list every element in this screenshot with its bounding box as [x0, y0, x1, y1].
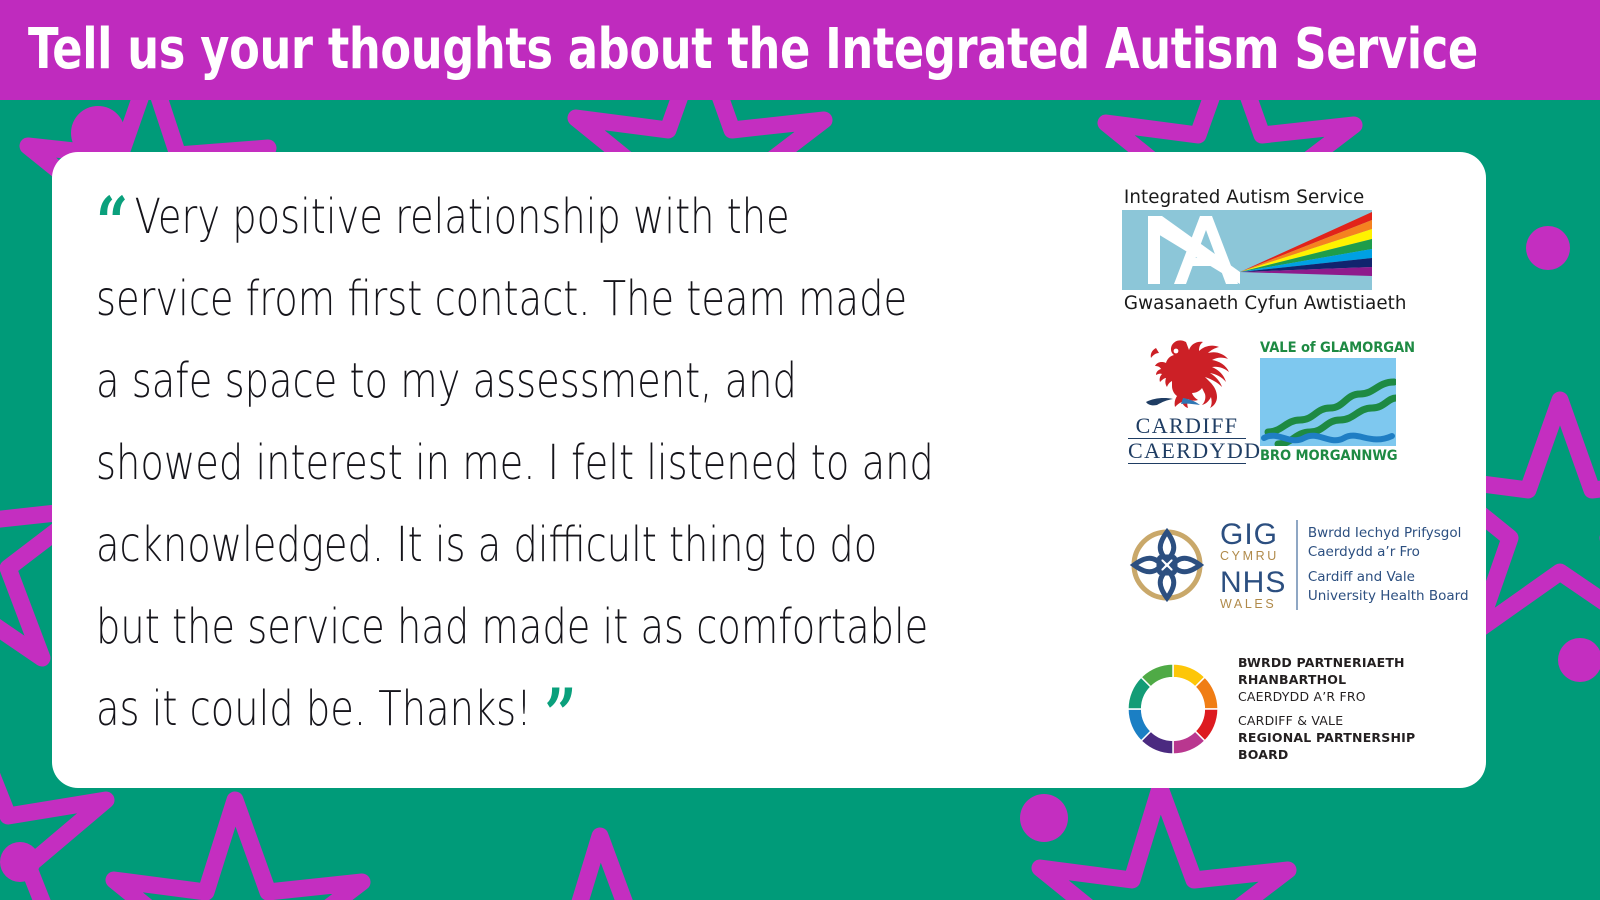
open-quote-icon: “ — [96, 181, 128, 264]
ias-title-cy: Gwasanaeth Cyfun Awtistiaeth — [1122, 292, 1364, 314]
rpb-line-cy-2: RHANBARTHOL — [1238, 671, 1415, 688]
quote-line-7: as it could be. Thanks! — [96, 681, 532, 737]
cardiff-divider-2 — [1128, 463, 1246, 464]
nhs-gig-text: GIG — [1220, 520, 1286, 550]
rpb-line-en-3: BOARD — [1238, 746, 1415, 763]
quote-line-5: acknowledged. It is a difficult thing to… — [96, 517, 877, 573]
logo-nhs-wales: GIG CYMRU NHS WALES Bwrdd Iechyd Prifysg… — [1122, 520, 1469, 610]
quote-line-3: a safe space to my assessment, and — [96, 353, 797, 409]
page-title: Tell us your thoughts about the Integrat… — [28, 18, 1478, 82]
council-logos-row: CARDIFF CAERDYDD VALE of GLAMORGAN — [1122, 336, 1400, 464]
nhs-line-en-1: Cardiff and Vale — [1308, 568, 1469, 587]
logo-column: Integrated Autism Service — [1122, 186, 1462, 763]
quote-line-4: showed interest in me. I felt listened t… — [96, 435, 934, 491]
nhs-divider — [1296, 520, 1298, 610]
quote-text: “Very positive relationship with the ser… — [96, 176, 1152, 750]
nhs-nhs-text: NHS — [1220, 568, 1286, 598]
logo-regional-partnership-board: BWRDD PARTNERIAETH RHANBARTHOL CAERDYDD … — [1122, 654, 1415, 763]
rpb-colour-wheel-icon — [1124, 660, 1222, 758]
logo-integrated-autism-service: Integrated Autism Service — [1122, 186, 1374, 314]
logo-vale-of-glamorgan: VALE of GLAMORGAN — [1260, 340, 1400, 464]
cardiff-dragon-icon — [1128, 336, 1246, 414]
rpb-line-en-1: CARDIFF & VALE — [1238, 712, 1415, 729]
ias-artwork-icon — [1122, 210, 1372, 290]
vale-artwork-icon — [1260, 358, 1396, 446]
vale-title-en: VALE of GLAMORGAN — [1260, 340, 1392, 356]
logo-cardiff-council: CARDIFF CAERDYDD — [1128, 336, 1246, 464]
poster-root: Tell us your thoughts about the Integrat… — [0, 0, 1600, 900]
close-quote-icon: ” — [544, 673, 576, 756]
cardiff-name-en: CARDIFF — [1128, 414, 1246, 438]
cardiff-name-cy: CAERDYDD — [1128, 439, 1246, 463]
quote-body: “Very positive relationship with the ser… — [96, 176, 1156, 750]
nhs-wales-text: WALES — [1220, 598, 1286, 611]
nhs-line-cy-1: Bwrdd Iechyd Prifysgol — [1308, 524, 1469, 543]
rpb-line-cy-1: BWRDD PARTNERIAETH — [1238, 654, 1415, 671]
rpb-line-cy-3: CAERDYDD A’R FRO — [1238, 688, 1415, 705]
quote-line-6: but the service had made it as comfortab… — [96, 599, 928, 655]
nhs-line-en-2: University Health Board — [1308, 587, 1469, 606]
nhs-line-cy-2: Caerdydd a’r Fro — [1308, 543, 1469, 562]
nhs-celtic-knot-icon — [1124, 522, 1210, 608]
quote-card: “Very positive relationship with the ser… — [52, 152, 1486, 788]
nhs-cymru-text: CYMRU — [1220, 550, 1286, 563]
vale-hills-icon — [1260, 358, 1396, 446]
ias-title-en: Integrated Autism Service — [1122, 186, 1364, 208]
quote-line-1: Very positive relationship with the — [135, 189, 790, 245]
nhs-wordmark: GIG CYMRU NHS WALES — [1220, 520, 1286, 610]
rpb-text-block: BWRDD PARTNERIAETH RHANBARTHOL CAERDYDD … — [1238, 654, 1415, 763]
quote-line-2: service from first contact. The team mad… — [96, 271, 907, 327]
nhs-health-board-text: Bwrdd Iechyd Prifysgol Caerdydd a’r Fro … — [1308, 524, 1469, 606]
rpb-line-en-2: REGIONAL PARTNERSHIP — [1238, 729, 1415, 746]
ias-rays-icon — [1122, 210, 1372, 290]
header-band: Tell us your thoughts about the Integrat… — [0, 0, 1600, 100]
vale-title-cy: BRO MORGANNWG — [1260, 448, 1392, 464]
